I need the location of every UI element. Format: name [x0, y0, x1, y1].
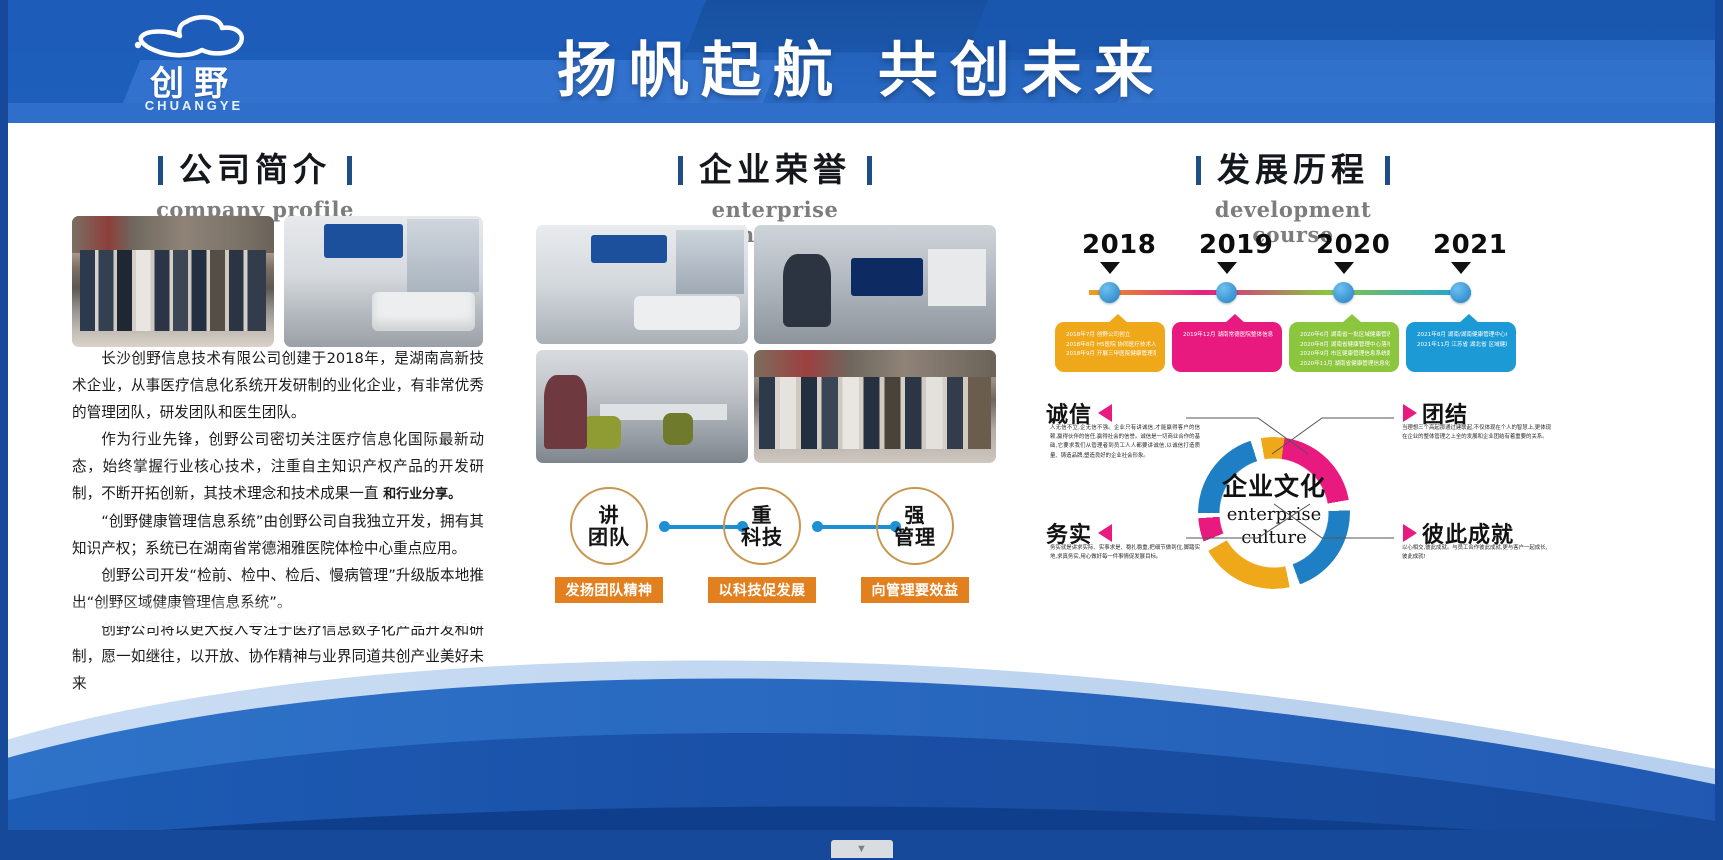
photo-whiteboard — [928, 249, 986, 306]
photo-people — [80, 250, 266, 331]
timeline-card-2018-line-3: 2018年9月 开展三甲医院健康管理系统研发 — [1066, 350, 1156, 360]
photo-window — [407, 219, 479, 292]
honor-photo-4 — [754, 350, 996, 463]
section-heading-profile-cn-wrap: 公司简介 — [155, 143, 355, 191]
photo-window — [676, 230, 744, 294]
honor-photo-2 — [754, 225, 996, 344]
photo-content — [536, 225, 748, 344]
photo-chair-a — [583, 416, 621, 450]
profile-paragraph-3: “创野健康管理信息系统”由创野公司自我独立开发，拥有其知识产权；系统已在湖南省常… — [72, 508, 484, 562]
flow-badge-management[interactable]: 向管理要效益 — [861, 577, 969, 603]
culture-arrow-mutual-icon — [1403, 524, 1417, 542]
footer-wave-svg — [0, 610, 1723, 860]
profile-photo-office — [284, 216, 483, 347]
scroll-hint[interactable]: ▼ — [831, 840, 893, 858]
heading-bar-right-icon — [1385, 156, 1390, 185]
flow-node-management-label: 强管理 — [894, 504, 936, 548]
photo-people — [759, 377, 991, 449]
timeline-card-2018-line-2: 2018年8月 H5医院 协同医疗技术人员到院 — [1066, 341, 1156, 351]
flow-node-management[interactable]: 强管理 — [876, 487, 954, 565]
photo-content — [754, 225, 996, 344]
photo-chair-b — [663, 413, 693, 445]
timeline-node-2019-icon[interactable] — [1216, 282, 1237, 303]
photo-content — [72, 216, 274, 347]
photo-signboard — [324, 224, 404, 258]
right-border — [1715, 0, 1723, 860]
culture-body-mutual-achievement: 以心相交,彼此成就。与员工合作彼此成就,更与客户一起成长,彼此成就! — [1402, 544, 1552, 562]
timeline-axis — [1089, 290, 1471, 295]
photo-content — [284, 216, 483, 347]
timeline-year-2018: 2018 — [1082, 230, 1156, 260]
section-heading-profile-cn: 公司简介 — [179, 150, 331, 189]
timeline-card-2018-line-1: 2018年7月 创野公司创立 — [1066, 331, 1156, 341]
photo-sofa — [634, 296, 740, 329]
timeline-card-2020[interactable]: 2020年6月 湖南省一批区域健康管理中心успех落地 2020年8月 湖南省… — [1289, 322, 1399, 372]
flow-node-tech[interactable]: 重科技 — [723, 487, 801, 565]
timeline-card-2020-line-1: 2020年6月 湖南省一批区域健康管理中心успех落地 — [1300, 331, 1390, 341]
timeline-card-2021-line-1: 2021年8月 湖南/湖南健康管理中心G端区域化产业 — [1417, 331, 1507, 341]
timeline-marker-2020-icon — [1334, 262, 1354, 274]
photo-person — [783, 254, 831, 328]
section-heading-profile: 公司简介 company profile — [155, 143, 355, 222]
timeline-node-2021-icon[interactable] — [1450, 282, 1471, 303]
timeline-card-2021-line-2: 2021年11月 江苏省 湖北省 区域健康管理项目落地推进 — [1417, 341, 1507, 351]
honor-photo-1 — [536, 225, 748, 344]
section-heading-honor-cn: 企业荣誉 — [699, 150, 851, 189]
timeline-node-2018-icon[interactable] — [1099, 282, 1120, 303]
culture-arrow-unity-icon — [1403, 404, 1417, 422]
timeline-node-2020-icon[interactable] — [1333, 282, 1354, 303]
culture-body-integrity: 人无信不立,企无信不强。企业只有讲诚信,才能赢得客户的信赖,赢得伙伴的信任,赢得… — [1050, 424, 1200, 461]
heading-bar-left-icon — [1196, 156, 1201, 185]
timeline-year-2019: 2019 — [1199, 230, 1273, 260]
heading-bar-left-icon — [158, 156, 163, 185]
timeline-card-2018[interactable]: 2018年7月 创野公司创立 2018年8月 H5医院 协同医疗技术人员到院 2… — [1055, 322, 1165, 372]
profile-paragraph-1: 长沙创野信息技术有限公司创建于2018年，是湖南高新技术企业，从事医疗信息化系统… — [72, 345, 484, 426]
photo-content — [754, 350, 996, 463]
heading-bar-right-icon — [347, 156, 352, 185]
poster-page: 创野 CHUANGYE 扬帆起航 共创未来 公司简介 company profi… — [0, 0, 1723, 860]
heading-bar-right-icon — [867, 156, 872, 185]
honor-photo-3 — [536, 350, 748, 463]
flow-badge-team[interactable]: 发扬团队精神 — [555, 577, 663, 603]
flow-node-team-label: 讲团队 — [588, 504, 630, 548]
photo-wall — [754, 350, 996, 377]
timeline-marker-2018-icon — [1100, 262, 1120, 274]
culture-body-unity: 当理想三个高起那通过建联起,不仅体现在个人的智慧上,更体现在企业的整体管理之上全… — [1402, 424, 1552, 442]
section-heading-course-cn: 发展历程 — [1217, 150, 1369, 189]
timeline-card-2021[interactable]: 2021年8月 湖南/湖南健康管理中心G端区域化产业 2021年11月 江苏省 … — [1406, 322, 1516, 372]
culture-arrow-integrity-icon — [1098, 404, 1112, 422]
flow-node-tech-label: 重科技 — [741, 504, 783, 548]
timeline-marker-2021-icon — [1451, 262, 1471, 274]
timeline-card-2019[interactable]: 2019年12月 湖南常德医院整体信息化上线 — [1172, 322, 1282, 372]
photo-person — [544, 375, 586, 450]
flow-dot-1a-icon — [659, 521, 670, 532]
photo-sofa — [372, 292, 475, 331]
profile-handwriting-note: 和行业分享。 — [383, 487, 461, 502]
timeline-year-2020: 2020 — [1316, 230, 1390, 260]
flow-badge-tech[interactable]: 以科技促发展 — [708, 577, 816, 603]
timeline-card-2019-line-1: 2019年12月 湖南常德医院整体信息化上线 — [1183, 331, 1273, 341]
banner-title: 扬帆起航 共创未来 — [0, 22, 1723, 109]
header-banner: 创野 CHUANGYE 扬帆起航 共创未来 — [0, 0, 1723, 123]
timeline-card-2020-line-3: 2020年9月 市区健康管理信息系统数据规范化建设 — [1300, 350, 1390, 360]
left-border — [0, 0, 8, 860]
timeline-marker-2019-icon — [1217, 262, 1237, 274]
footer-wave-decoration — [0, 610, 1723, 860]
photo-screen — [851, 258, 924, 296]
values-flow-diagram: 讲团队 重科技 强管理 发扬团队精神 以科技促发展 向管理要效益 — [560, 487, 980, 607]
photo-wall — [72, 216, 274, 253]
timeline-card-2020-line-4: 2020年11月 湖南省健康管理信息化全面升级 — [1300, 360, 1390, 370]
photo-content — [536, 350, 748, 463]
photo-signboard — [591, 235, 667, 264]
timeline-card-2020-line-2: 2020年8月 湖南省健康管理中心落地合作 — [1300, 341, 1390, 351]
flow-dot-2a-icon — [812, 521, 823, 532]
profile-paragraph-2: 作为行业先锋，创野公司密切关注医疗信息化国际最新动态，始终掌握行业核心技术，注重… — [72, 426, 484, 508]
timeline-year-2021: 2021 — [1433, 230, 1507, 260]
heading-bar-left-icon — [678, 156, 683, 185]
section-heading-honor-cn-wrap: 企业荣誉 — [675, 143, 875, 191]
culture-body-pragmatism: 务实就是讲求实际、实事求是、稳扎稳重,把细节做到位,脚踏实地,求真务实,用心做好… — [1050, 544, 1200, 562]
flow-node-team[interactable]: 讲团队 — [570, 487, 648, 565]
section-heading-course-cn-wrap: 发展历程 — [1183, 143, 1403, 191]
profile-photo-team — [72, 216, 274, 347]
culture-arrow-pragmatism-icon — [1098, 524, 1112, 542]
